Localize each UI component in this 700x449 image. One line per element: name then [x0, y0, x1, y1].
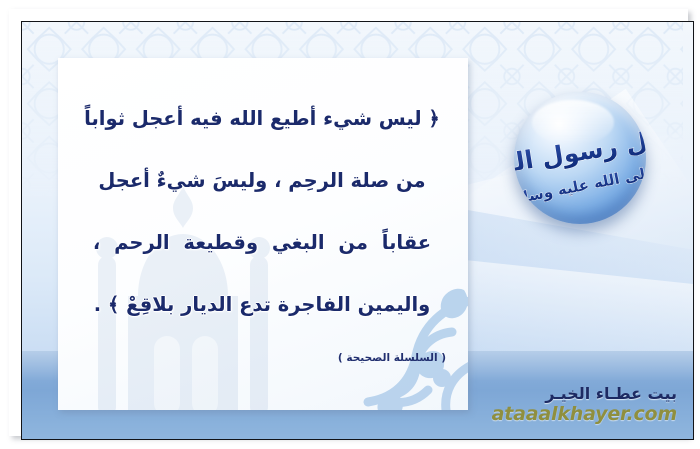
- hadith-line-1: ﴿ ليس شيء أطيع الله فيه أعجل ثواباً: [72, 88, 452, 150]
- hadith-card: ﴿ ليس شيء أطيع الله فيه أعجل ثواباً من ص…: [0, 0, 700, 449]
- card-mat: ﴿ ليس شيء أطيع الله فيه أعجل ثواباً من ص…: [9, 9, 688, 436]
- card-frame: ﴿ ليس شيء أطيع الله فيه أعجل ثواباً من ص…: [21, 21, 694, 440]
- hadith-line-3: عقاباً من البغي وقطيعة الرحم ،: [72, 212, 452, 274]
- site-signature: بيت عطـاء الخيـر ataaalkhayer.com: [492, 384, 677, 425]
- hadith-text: ﴿ ليس شيء أطيع الله فيه أعجل ثواباً من ص…: [72, 88, 452, 336]
- hadith-line-4: واليمين الفاجرة تدع الديار بلاقِعْ ﴾ .: [72, 274, 452, 336]
- prophet-saying-badge: قال رسول الله صلى الله عليه وسلم :: [514, 92, 646, 224]
- hadith-source: ( السلسلة الصحيحة ): [338, 352, 446, 364]
- signature-arabic: بيت عطـاء الخيـر: [492, 384, 677, 403]
- hadith-line-2: من صلة الرحِم ، وليسَ شيءٌ أعجل: [72, 150, 452, 212]
- calligraphy-qala-rasul-allah-icon: قال رسول الله صلى الله عليه وسلم :: [514, 92, 646, 224]
- quote-panel: ﴿ ليس شيء أطيع الله فيه أعجل ثواباً من ص…: [58, 58, 468, 410]
- signature-url[interactable]: ataaalkhayer.com: [492, 403, 677, 425]
